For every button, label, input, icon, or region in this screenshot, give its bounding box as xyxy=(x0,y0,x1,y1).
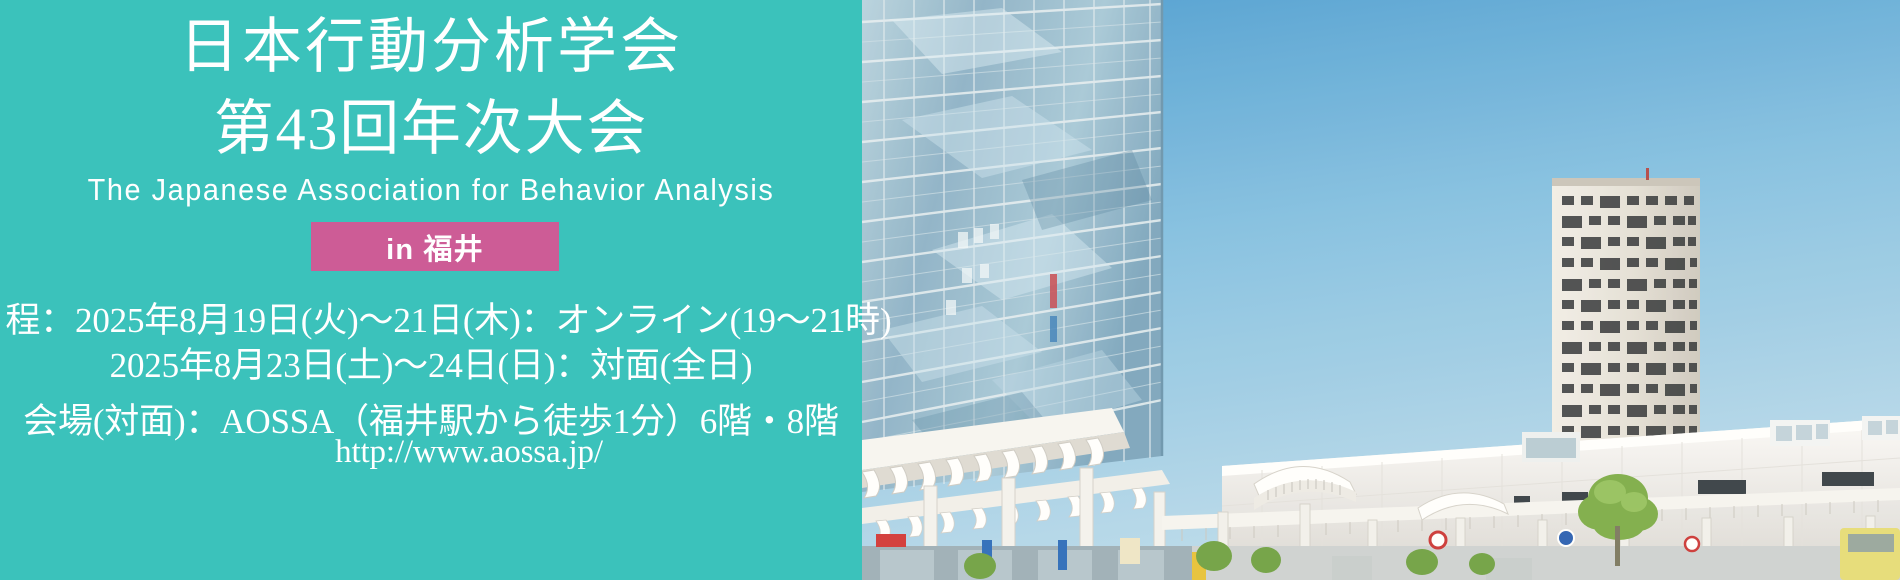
date-line-onsite: 2025年8月23日(土)〜24日(日)：対面(全日) xyxy=(110,337,753,388)
conference-banner: 日本行動分析学会 第43回年次大会 The Japanese Associati… xyxy=(0,0,1900,580)
subtitle-english: The Japanese Association for Behavior An… xyxy=(30,172,832,208)
page-title-line-1: 日本行動分析学会 xyxy=(0,14,862,81)
venue-photo-illustration xyxy=(862,0,1900,580)
date-line-online: 日程：2025年8月19日(火)〜21日(木)：オンライン(19〜21時) xyxy=(0,292,891,343)
info-panel: 日本行動分析学会 第43回年次大会 The Japanese Associati… xyxy=(0,0,862,580)
location-badge: in 福井 xyxy=(311,222,559,271)
page-title-line-2: 第43回年次大会 xyxy=(0,96,862,163)
venue-photo xyxy=(862,0,1900,580)
venue-url: http://www.aossa.jp/ xyxy=(259,434,603,471)
